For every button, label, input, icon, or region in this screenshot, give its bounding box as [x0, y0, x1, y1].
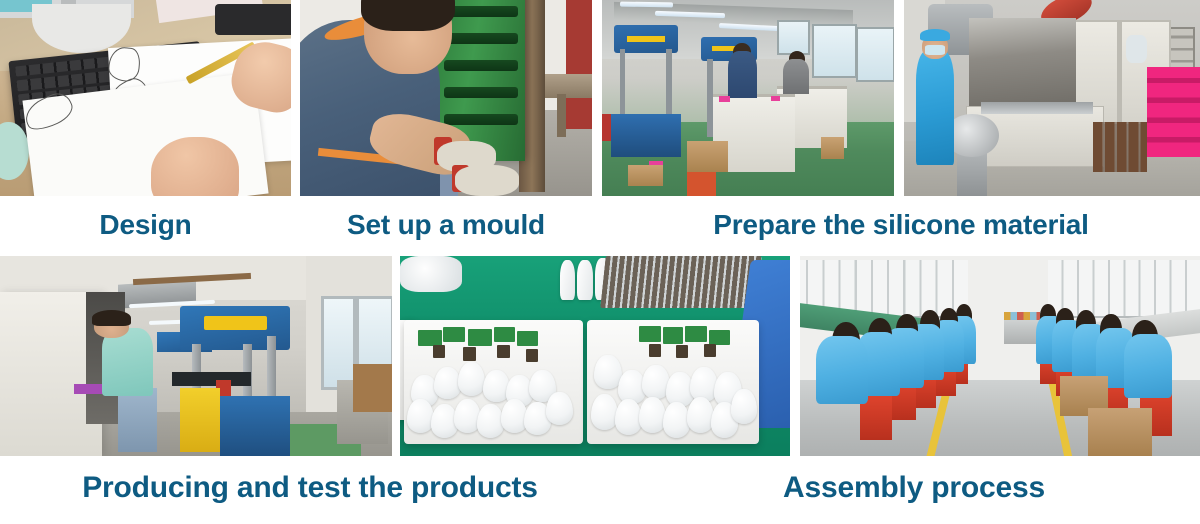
caption-producing-and-test-the-products: Producing and test the products — [0, 460, 620, 516]
worker-body — [783, 59, 809, 94]
sketch-outline — [107, 46, 141, 82]
window — [856, 27, 894, 82]
photo-mould-setup — [300, 0, 592, 196]
cabinet-divider — [1117, 20, 1121, 122]
product-tray — [587, 320, 759, 444]
component-rack — [600, 256, 761, 308]
work-glove — [455, 165, 519, 196]
photo-design — [0, 0, 291, 196]
mousepad — [215, 4, 291, 35]
shipping-carton — [1088, 408, 1152, 456]
fluorescent-tube — [619, 1, 672, 7]
pink-part — [771, 96, 780, 101]
red-wall-panel — [566, 0, 592, 129]
wooden-board — [353, 364, 392, 412]
photo-assembly-line — [800, 256, 1200, 456]
stacked-crates — [1093, 122, 1146, 173]
window — [777, 20, 810, 55]
press-label — [204, 316, 267, 330]
press-platen — [172, 372, 250, 386]
photo-producing-testing — [0, 256, 392, 456]
monitor-base — [32, 4, 131, 53]
face-mask — [925, 45, 946, 55]
caption-design: Design — [0, 198, 291, 252]
photo-workshop — [602, 0, 894, 196]
right-shelving — [1048, 260, 1200, 318]
press-base — [611, 114, 681, 157]
caption-mould-text: Set up a mould — [347, 211, 545, 239]
caption-prepare-the-silicone-material: Prepare the silicone material — [602, 198, 1200, 252]
worker-body — [728, 51, 757, 98]
caption-assembly-process: Assembly process — [628, 460, 1200, 516]
poly-bag — [400, 256, 462, 292]
carton-box — [687, 141, 728, 172]
worker-hair — [361, 0, 454, 31]
process-gallery: Design Set up a mould Prepare the silico… — [0, 0, 1200, 524]
worker-smock — [1124, 334, 1172, 398]
worker-hair — [92, 310, 131, 326]
operator-body — [916, 51, 954, 165]
resting-hand — [151, 137, 238, 196]
conveyor-rail — [981, 102, 1093, 114]
caption-set-up-a-mould: Set up a mould — [300, 198, 592, 252]
caption-material-text: Prepare the silicone material — [713, 211, 1088, 239]
machine-hood — [969, 18, 1076, 112]
pink-tray-stack — [1147, 67, 1200, 157]
small-cart — [1004, 320, 1040, 344]
red-stool — [687, 172, 716, 196]
caption-design-text: Design — [99, 211, 191, 239]
press-label — [627, 36, 666, 42]
white-cylinder-part — [577, 260, 593, 300]
press-base — [220, 396, 291, 456]
window — [812, 24, 857, 79]
plastic-bag — [1126, 35, 1147, 62]
product-tray — [404, 320, 583, 444]
white-cylinder-part — [560, 260, 576, 300]
caption-assembly-text: Assembly process — [783, 473, 1045, 503]
photo-product-trays — [400, 256, 790, 456]
carton-box — [628, 165, 663, 187]
worker-smock — [816, 336, 868, 404]
carton-box — [821, 137, 844, 159]
pink-part — [719, 96, 731, 102]
worker-jeans — [118, 388, 157, 452]
hair-cap — [920, 29, 950, 41]
photo-silicone-material — [904, 0, 1200, 196]
worker-torso — [102, 328, 153, 396]
yellow-guard-panel — [180, 388, 219, 452]
table-leg — [557, 94, 566, 137]
caption-producing-text: Producing and test the products — [82, 473, 538, 503]
